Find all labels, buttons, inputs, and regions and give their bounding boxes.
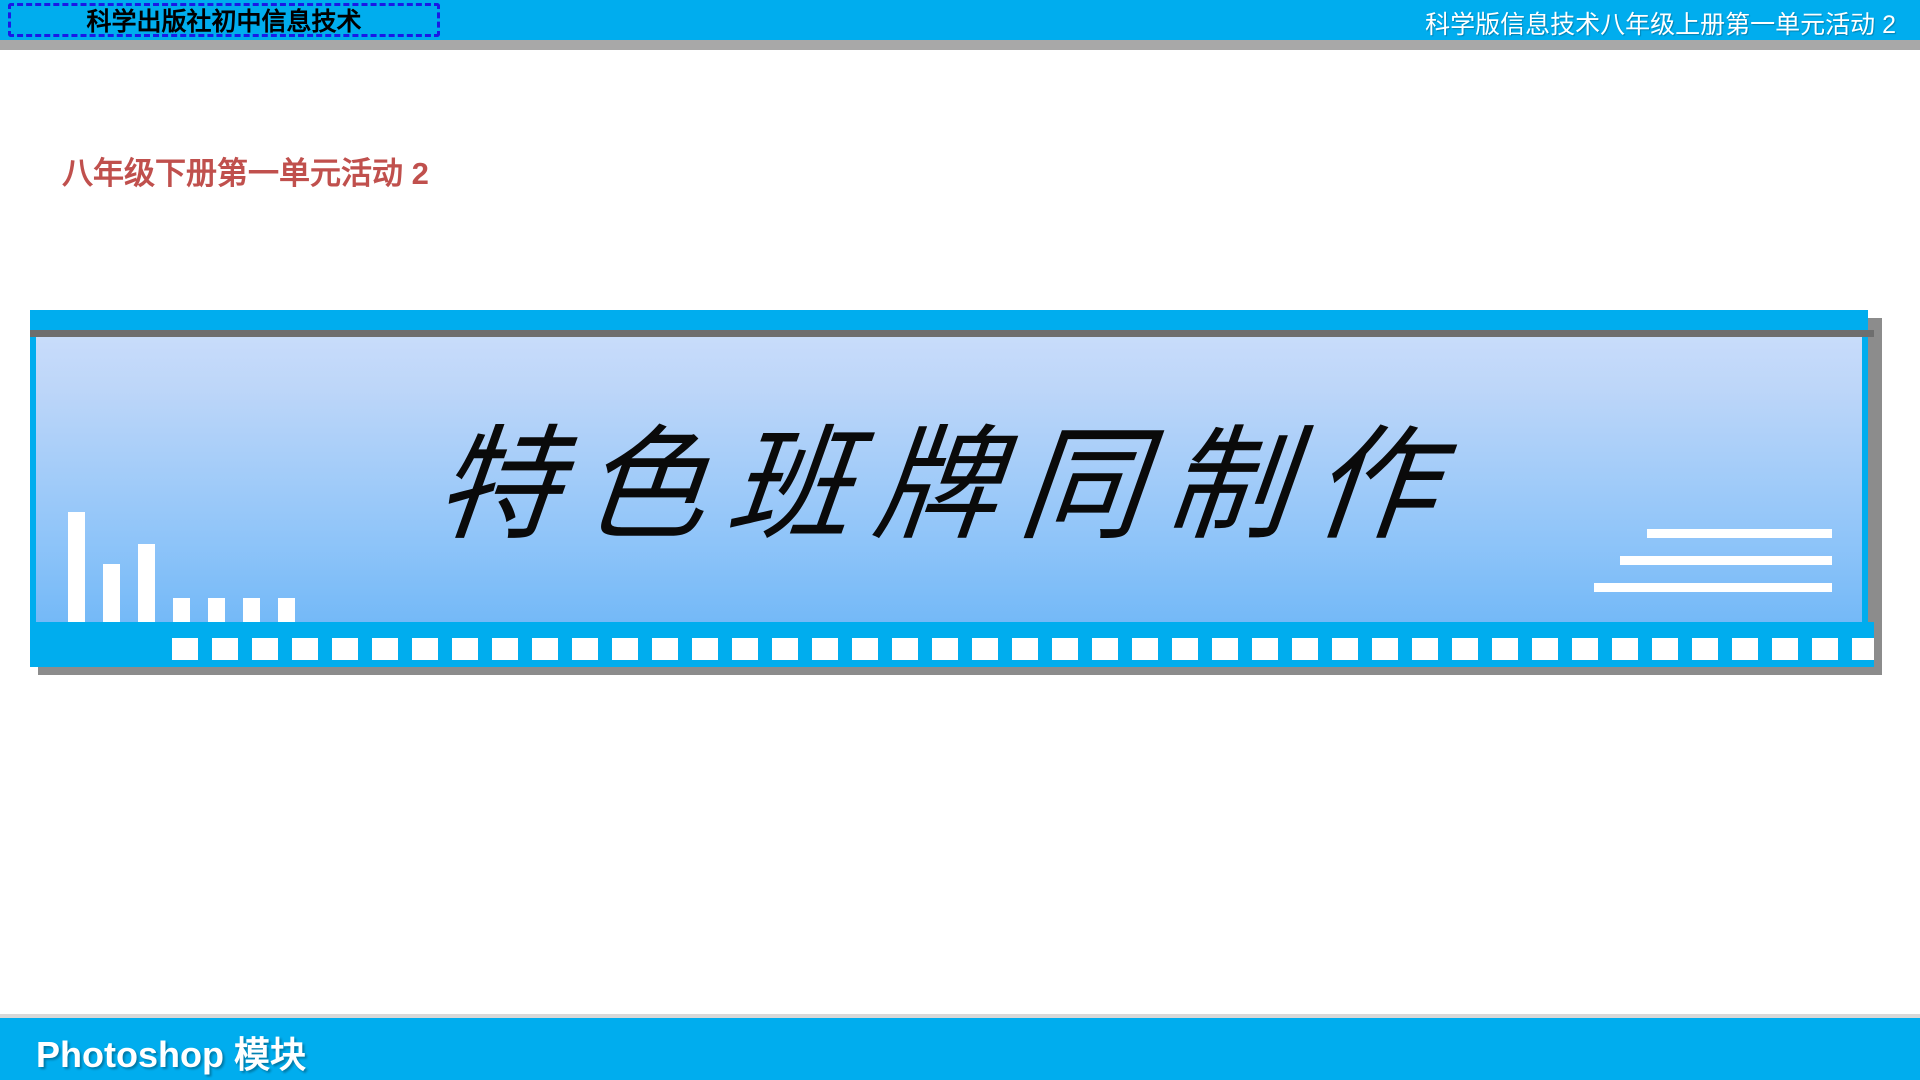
banner-dash <box>1692 638 1718 660</box>
banner-dash <box>652 638 678 660</box>
banner-dash <box>1372 638 1398 660</box>
banner-top-divider <box>30 330 1874 337</box>
banner-dash <box>1532 638 1558 660</box>
banner-dash <box>1812 638 1838 660</box>
banner-dash <box>932 638 958 660</box>
banner-dash <box>332 638 358 660</box>
publisher-badge-label: 科学出版社初中信息技术 <box>86 2 361 38</box>
banner-dash <box>1852 638 1874 660</box>
banner-dash <box>1732 638 1758 660</box>
banner-dash <box>892 638 918 660</box>
banner-dash <box>1572 638 1598 660</box>
banner-dash <box>452 638 478 660</box>
footer-module-label: Photoshop 模块 <box>36 1026 306 1078</box>
banner-dash <box>172 638 198 660</box>
banner-dash <box>1252 638 1278 660</box>
banner-dash <box>1172 638 1198 660</box>
banner-bottom-accent-bar <box>30 622 1874 667</box>
banner-dash <box>412 638 438 660</box>
banner-dash <box>1212 638 1238 660</box>
banner-dash <box>692 638 718 660</box>
banner-dash <box>572 638 598 660</box>
banner-dash-row <box>172 638 1874 660</box>
banner-dash <box>1052 638 1078 660</box>
banner-dash <box>612 638 638 660</box>
banner-dash <box>732 638 758 660</box>
banner-dash <box>532 638 558 660</box>
banner-dash <box>1012 638 1038 660</box>
banner-dash <box>852 638 878 660</box>
banner-top-accent-bar <box>30 310 1868 330</box>
banner-dash <box>372 638 398 660</box>
footer-band: Photoshop 模块 <box>0 1018 1920 1080</box>
banner-dash <box>212 638 238 660</box>
banner-dash <box>1652 638 1678 660</box>
title-banner: 特色班牌同制作 <box>30 310 1882 675</box>
banner-dash <box>1612 638 1638 660</box>
banner-dash <box>1292 638 1318 660</box>
banner-dash <box>252 638 278 660</box>
page-title: 八年级下册第一单元活动 2 <box>62 148 429 193</box>
banner-body: 特色班牌同制作 <box>30 337 1868 622</box>
banner-caption-area: 特色班牌同制作 <box>30 337 1868 622</box>
banner-dash <box>1132 638 1158 660</box>
banner-caption-text: 特色班牌同制作 <box>429 384 1470 564</box>
banner-dash <box>1492 638 1518 660</box>
banner-dash <box>772 638 798 660</box>
banner-dash <box>292 638 318 660</box>
publisher-badge: 科学出版社初中信息技术 <box>8 3 440 37</box>
banner-dash <box>972 638 998 660</box>
banner-dash <box>492 638 518 660</box>
top-header-shadow <box>0 40 1920 50</box>
banner-dash <box>812 638 838 660</box>
banner-dash <box>1332 638 1358 660</box>
banner-dash <box>1452 638 1478 660</box>
header-course-label: 科学版信息技术八年级上册第一单元活动 2 <box>1425 5 1896 41</box>
banner-dash <box>1412 638 1438 660</box>
banner-dash <box>1772 638 1798 660</box>
banner-dash <box>1092 638 1118 660</box>
